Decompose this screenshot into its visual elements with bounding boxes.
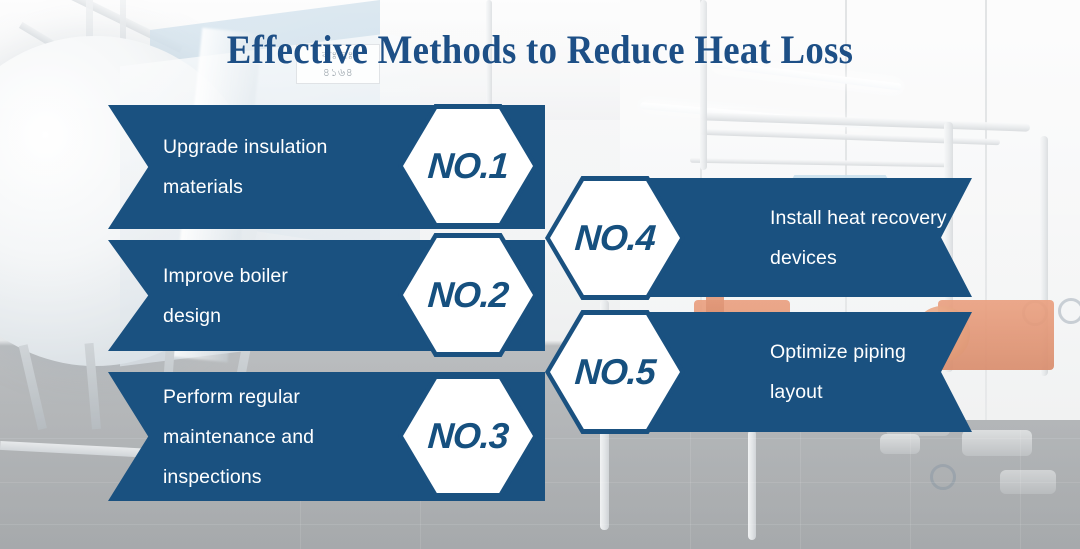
method-line: Improve boiler bbox=[163, 256, 288, 296]
badge-label-5: NO.5 bbox=[574, 351, 657, 393]
method-text-5: Optimize piping layout bbox=[770, 332, 906, 412]
method-text-3: Perform regular maintenance and inspecti… bbox=[163, 377, 314, 497]
method-line: materials bbox=[163, 167, 327, 207]
method-line: Perform regular bbox=[163, 377, 314, 417]
method-badge-2: NO.2 bbox=[398, 233, 538, 357]
badge-label-4: NO.4 bbox=[574, 217, 657, 259]
badge-label-2: NO.2 bbox=[427, 274, 510, 316]
method-line: layout bbox=[770, 372, 906, 412]
badge-label-3: NO.3 bbox=[427, 415, 510, 457]
method-badge-1: NO.1 bbox=[398, 104, 538, 228]
method-line: design bbox=[163, 296, 288, 336]
method-badge-3: NO.3 bbox=[398, 374, 538, 498]
method-text-4: Install heat recovery devices bbox=[770, 198, 947, 278]
page-title: Effective Methods to Reduce Heat Loss bbox=[43, 26, 1037, 73]
method-line: devices bbox=[770, 238, 947, 278]
method-line: Optimize piping bbox=[770, 332, 906, 372]
method-line: inspections bbox=[163, 457, 314, 497]
method-line: Upgrade insulation bbox=[163, 127, 327, 167]
badge-label-1: NO.1 bbox=[427, 145, 510, 187]
method-line: maintenance and bbox=[163, 417, 314, 457]
method-text-1: Upgrade insulation materials bbox=[163, 127, 327, 207]
method-line: Install heat recovery bbox=[770, 198, 947, 238]
method-badge-4: NO.4 bbox=[545, 176, 685, 300]
method-badge-5: NO.5 bbox=[545, 310, 685, 434]
method-text-2: Improve boiler design bbox=[163, 256, 288, 336]
infographic-stage: বাঃ বঃ ৪১৬৪ bbox=[0, 0, 1080, 549]
